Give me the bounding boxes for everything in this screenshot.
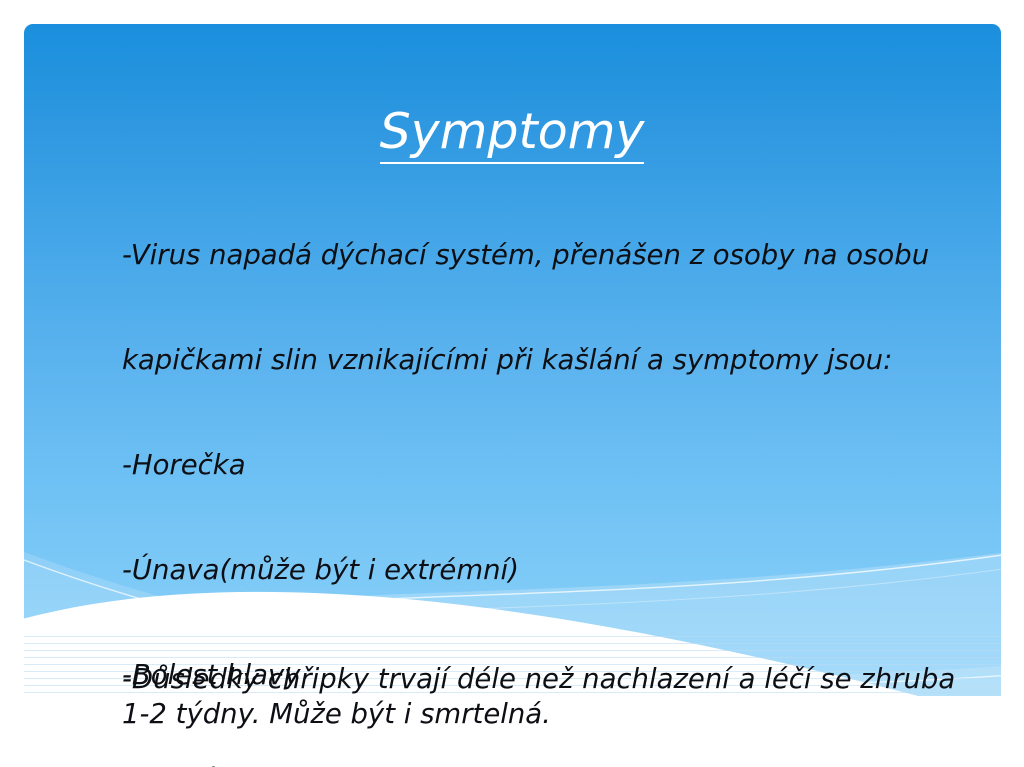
slide-title-text: Symptomy	[380, 103, 645, 164]
body-line: -Suchý kašel	[122, 763, 952, 767]
footer-line: -Důsledky chřipky trvají déle než nachla…	[122, 662, 1002, 697]
body-line: -Únava(může být i extrémní)	[122, 553, 952, 588]
body-line: -Horečka	[122, 448, 952, 483]
slide-footer-text: -Důsledky chřipky trvají déle než nachla…	[122, 662, 1002, 732]
slide: Symptomy -Virus napadá dýchací systém, p…	[0, 0, 1024, 767]
footer-line: 1-2 týdny. Může být i smrtelná.	[122, 697, 1002, 732]
body-line: kapičkami slin vznikajícími při kašlání …	[122, 343, 952, 378]
body-line: -Virus napadá dýchací systém, přenášen z…	[122, 238, 952, 273]
slide-title: Symptomy	[0, 104, 1024, 160]
